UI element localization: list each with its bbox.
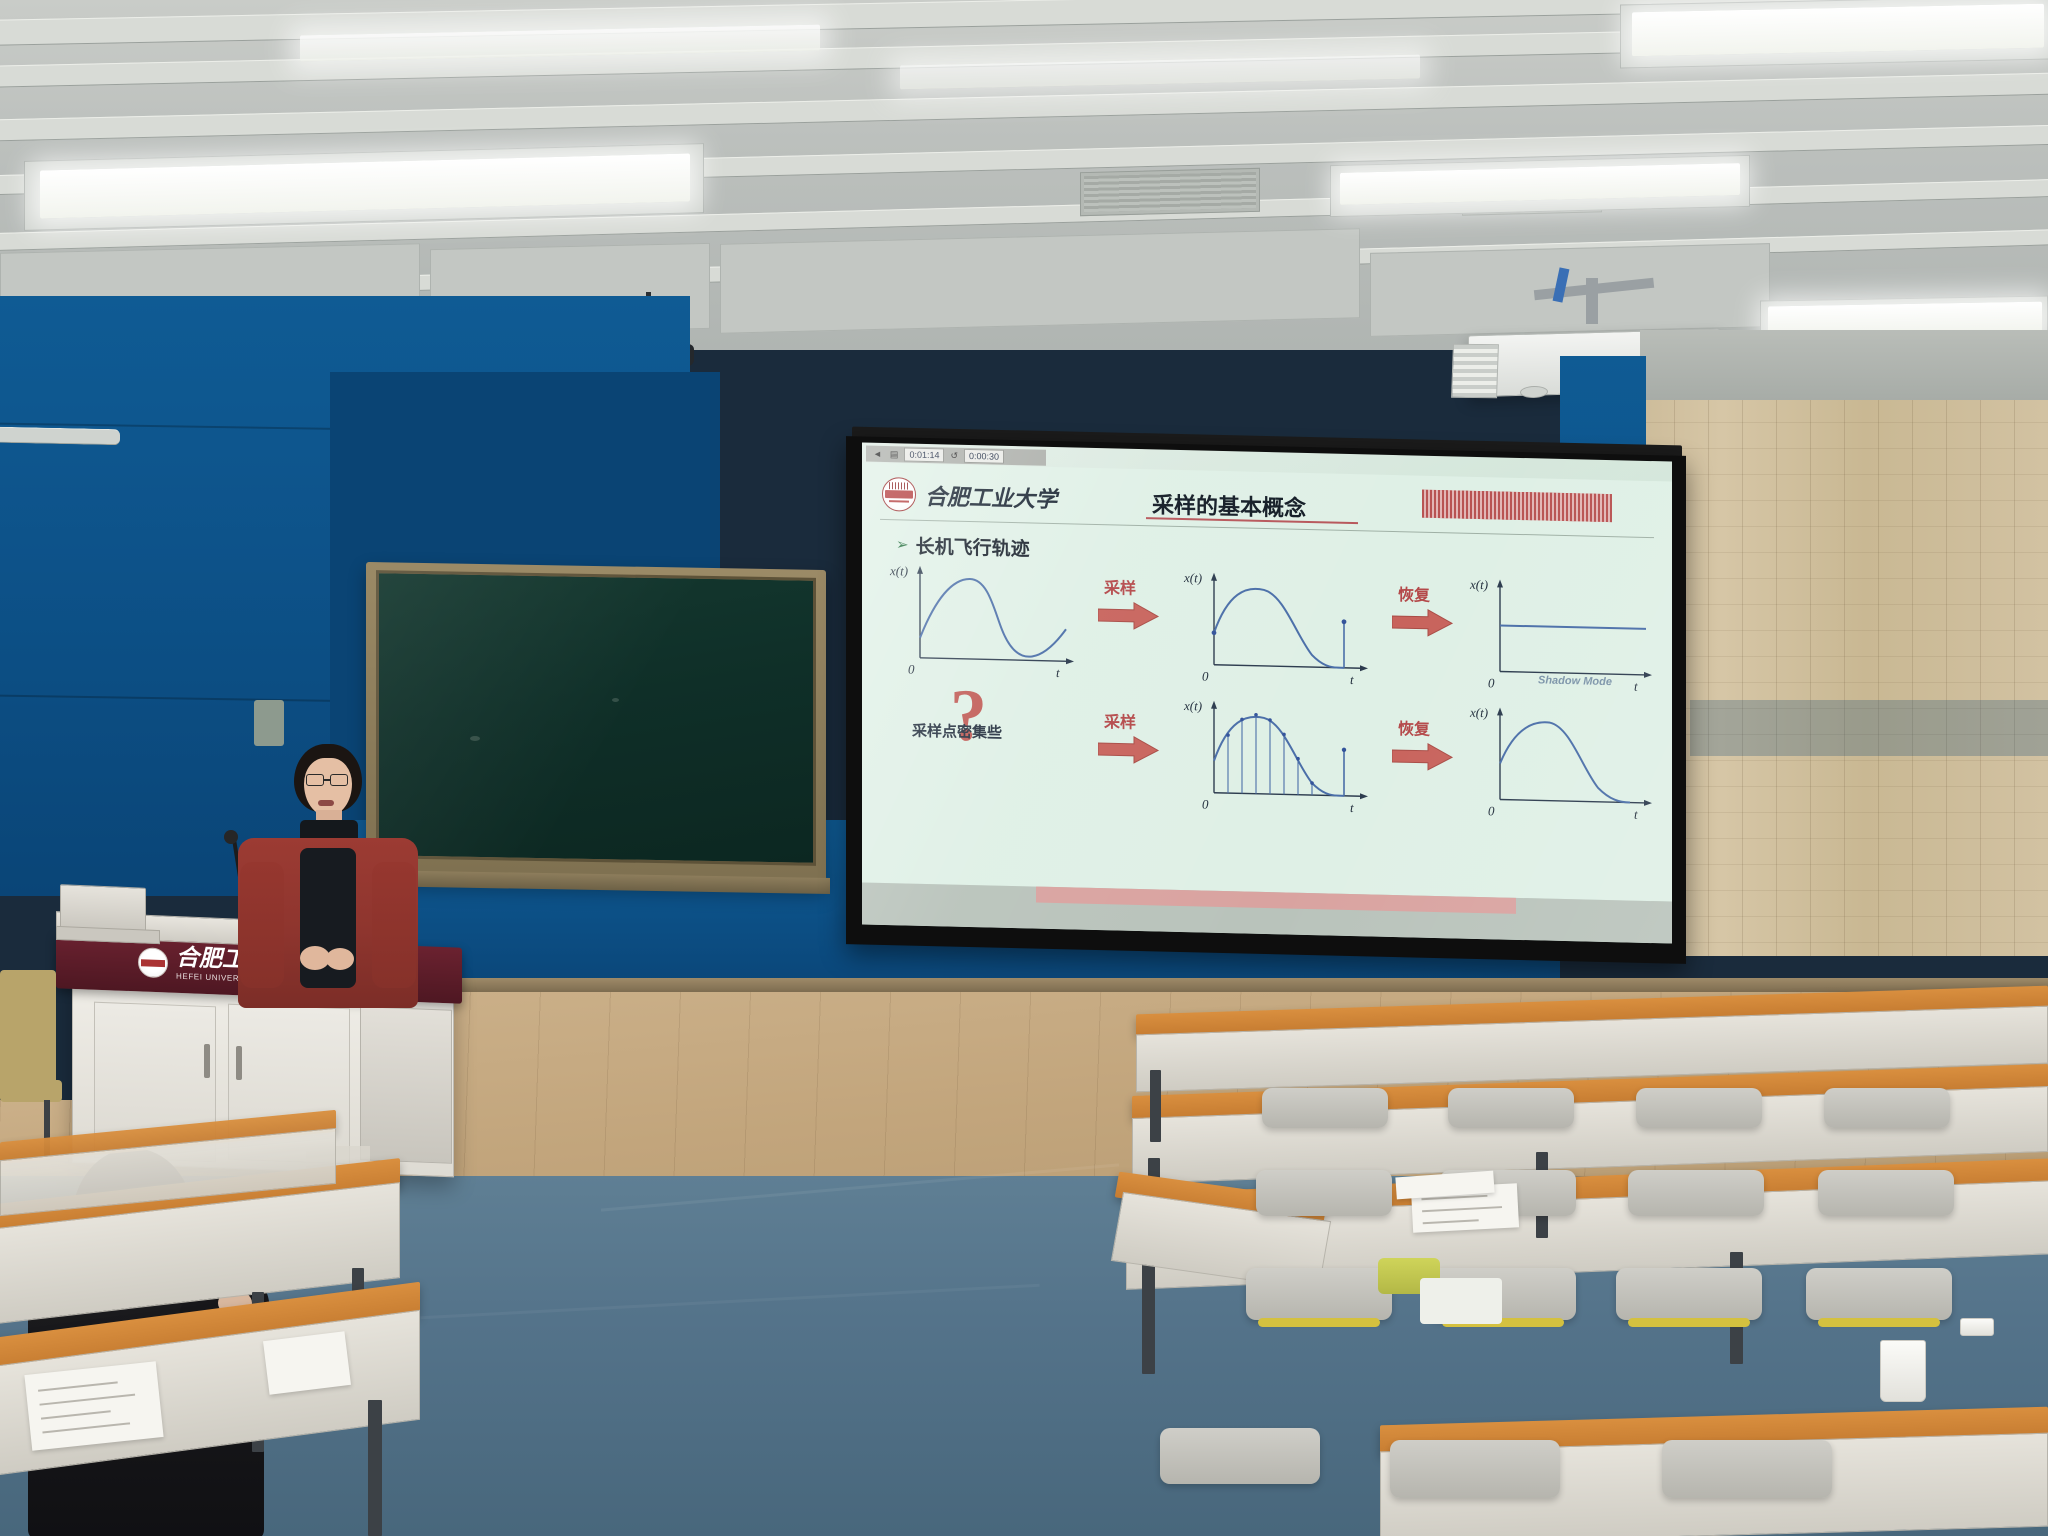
elapsed-time-value: 0:01:14 bbox=[904, 447, 944, 462]
chair[interactable] bbox=[1390, 1440, 1560, 1498]
paper-line bbox=[38, 1381, 118, 1391]
podium-side-panel bbox=[360, 1006, 452, 1164]
paper-line bbox=[42, 1422, 130, 1433]
chair[interactable] bbox=[1818, 1170, 1954, 1216]
right-wood-wall bbox=[1640, 396, 2048, 956]
slide-university-name: 合肥工业大学 bbox=[925, 479, 1057, 514]
wall-rail bbox=[0, 427, 120, 446]
chair[interactable] bbox=[1160, 1428, 1320, 1484]
shadow-mode-watermark: Shadow Mode bbox=[1538, 674, 1612, 688]
hfut-crest-icon bbox=[138, 947, 168, 978]
bullet-arrow-icon: ➢ bbox=[896, 537, 909, 552]
presenter-glasses-bridge bbox=[324, 779, 331, 781]
ceiling-vent bbox=[1080, 168, 1260, 216]
chair[interactable] bbox=[1628, 1170, 1764, 1216]
menu-icon[interactable]: ▤ bbox=[888, 449, 901, 460]
chalk-mark bbox=[470, 736, 480, 741]
paper-line bbox=[41, 1410, 111, 1419]
y-axis-label: x(t) bbox=[1183, 570, 1202, 585]
chair[interactable] bbox=[1262, 1088, 1388, 1128]
x-axis-label: t bbox=[1634, 679, 1638, 694]
stage-edge bbox=[330, 978, 2048, 992]
presenter-arm-left bbox=[240, 862, 284, 988]
projector-lens bbox=[1520, 386, 1548, 399]
step-label-sampling-2: 采样 bbox=[1104, 708, 1136, 733]
teacher-chair-seat[interactable] bbox=[0, 1080, 62, 1102]
y-axis-label: x(t) bbox=[1469, 705, 1488, 720]
right-upper-wall bbox=[1640, 330, 2048, 400]
origin-label: 0 bbox=[908, 662, 915, 677]
desk-leg bbox=[1142, 1258, 1155, 1374]
sample-points bbox=[1226, 712, 1346, 785]
chair[interactable] bbox=[1636, 1088, 1762, 1128]
chair[interactable] bbox=[1448, 1088, 1574, 1128]
student-paper[interactable] bbox=[263, 1331, 351, 1395]
blackboard-sheen bbox=[376, 570, 816, 866]
arrow-left-icon[interactable]: ◄ bbox=[871, 448, 884, 459]
chair-frame bbox=[1258, 1318, 1380, 1327]
paper-line bbox=[39, 1394, 135, 1406]
presenter-glasses-left bbox=[306, 774, 324, 786]
origin-label: 0 bbox=[1488, 803, 1495, 818]
desk-leg bbox=[368, 1400, 382, 1536]
projection-screen: ◄ ▤ 0:01:14 ↺ 0:00:30 合肥工业大学 采样的基本概念 ➢ bbox=[862, 442, 1672, 943]
sample-stems bbox=[1228, 714, 1312, 795]
right-arrow-icon bbox=[1098, 600, 1160, 636]
origin-label: 0 bbox=[1488, 675, 1495, 690]
paper-line bbox=[1422, 1206, 1502, 1212]
chair[interactable] bbox=[1256, 1170, 1392, 1216]
step-label-sampling-1: 采样 bbox=[1104, 574, 1136, 599]
wood-texture bbox=[1640, 396, 2048, 956]
presenter-hand bbox=[326, 948, 354, 970]
step-label-restore-1: 恢复 bbox=[1398, 581, 1430, 606]
y-axis-label: x(t) bbox=[1183, 698, 1202, 713]
chair[interactable] bbox=[1824, 1088, 1950, 1128]
chair[interactable] bbox=[1616, 1268, 1762, 1320]
question-text: 采样点密集些 bbox=[912, 720, 1002, 743]
slide-header: 合肥工业大学 bbox=[882, 477, 1057, 515]
slide: 合肥工业大学 采样的基本概念 ➢ 长机飞行轨迹 x(t) 0 bbox=[862, 462, 1672, 901]
header-decoration bbox=[1422, 490, 1612, 522]
lunch-box[interactable] bbox=[1420, 1278, 1502, 1324]
ceiling-panel bbox=[720, 228, 1360, 334]
chart-r1c2: x(t) 0 t bbox=[1184, 570, 1374, 686]
y-axis-label: x(t) bbox=[889, 563, 908, 578]
origin-label: 0 bbox=[1202, 796, 1209, 811]
chart-r1c1: x(t) 0 t bbox=[890, 563, 1080, 679]
teacher-chair[interactable] bbox=[0, 970, 56, 1090]
projector-vent bbox=[1451, 344, 1499, 398]
presenter-mouth bbox=[318, 800, 334, 806]
chair[interactable] bbox=[1662, 1440, 1832, 1498]
chart-r2c2: x(t) 0 t bbox=[1470, 705, 1656, 821]
reset-icon[interactable]: ↺ bbox=[948, 450, 960, 461]
x-axis-label: t bbox=[1350, 672, 1354, 687]
x-axis-label: t bbox=[1350, 800, 1354, 815]
right-blue-wall-shadow bbox=[1690, 700, 2048, 756]
blackboard-eraser bbox=[254, 700, 284, 746]
presenter-arm-right bbox=[372, 862, 416, 988]
right-arrow-icon bbox=[1392, 607, 1454, 643]
y-axis-label: x(t) bbox=[1469, 577, 1488, 592]
desk-leg bbox=[1150, 1070, 1161, 1142]
chalk-mark bbox=[612, 698, 619, 702]
right-arrow-icon bbox=[1098, 734, 1160, 770]
podium-handle-left[interactable] bbox=[204, 1044, 210, 1078]
chair-frame bbox=[1628, 1318, 1750, 1327]
paper-line bbox=[1423, 1219, 1479, 1223]
student-paper[interactable] bbox=[24, 1361, 163, 1450]
x-axis-label: t bbox=[1634, 807, 1638, 822]
paper-cup[interactable] bbox=[1880, 1340, 1926, 1402]
chair[interactable] bbox=[1246, 1268, 1392, 1320]
podium-handle-right[interactable] bbox=[236, 1046, 242, 1080]
paper-cup[interactable] bbox=[1960, 1318, 1994, 1336]
lecture-hall-photo: EPSON ◄ ▤ 0:01:14 ↺ 0:00:30 bbox=[0, 0, 2048, 1536]
bullet-label: 长机飞行轨迹 bbox=[916, 532, 1030, 562]
ceiling-light bbox=[1632, 4, 2044, 57]
presenter-glasses-right bbox=[330, 774, 348, 786]
microphone-head-icon bbox=[224, 830, 238, 844]
bullet-row: ➢ 长机飞行轨迹 bbox=[896, 531, 1030, 561]
right-arrow-icon bbox=[1392, 741, 1454, 777]
crest-rays bbox=[889, 482, 909, 489]
chart-r2c1: x(t) 0 t bbox=[1184, 698, 1374, 814]
chair-frame bbox=[1818, 1318, 1940, 1327]
slide-time-value: 0:00:30 bbox=[964, 449, 1004, 464]
origin-label: 0 bbox=[1202, 668, 1209, 683]
hfut-crest-icon bbox=[882, 477, 916, 512]
chair[interactable] bbox=[1806, 1268, 1952, 1320]
step-label-restore-2: 恢复 bbox=[1398, 715, 1430, 740]
x-axis-label: t bbox=[1056, 665, 1060, 680]
